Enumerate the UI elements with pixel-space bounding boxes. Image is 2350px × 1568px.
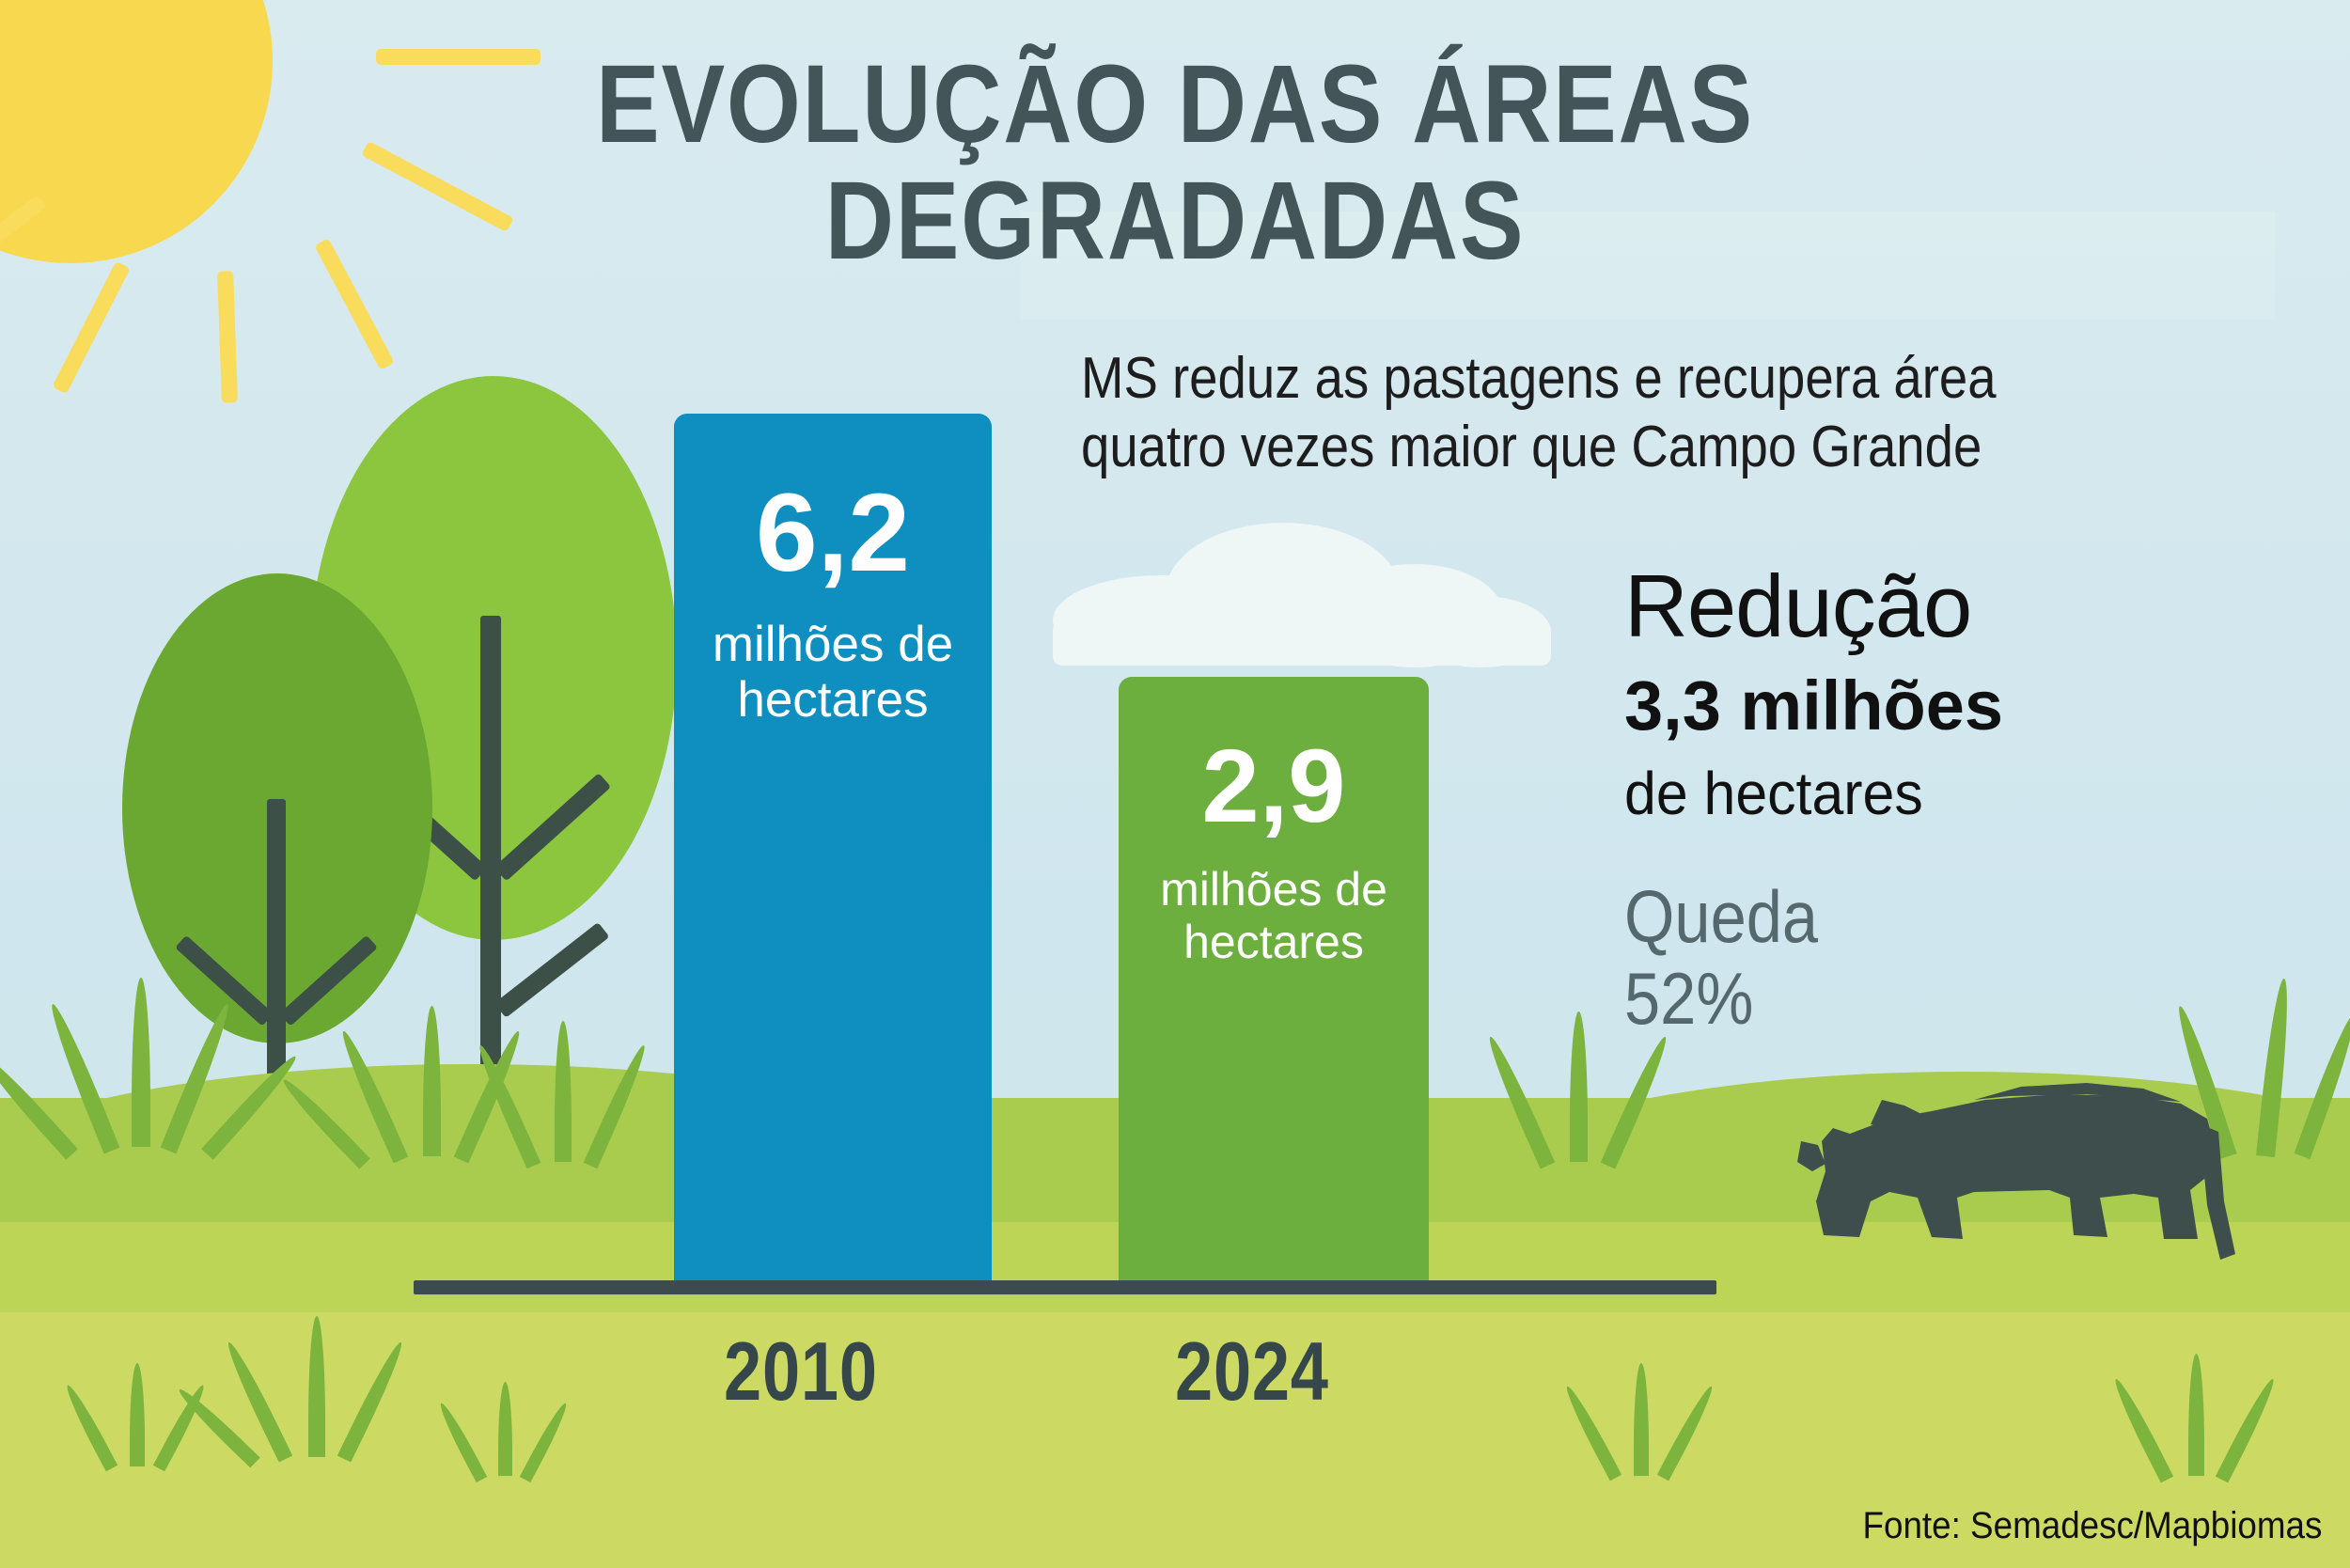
reducao-amount-unit: de hectares	[1624, 763, 1923, 823]
title-line-1: EVOLUÇÃO DAS ÁREAS	[164, 47, 2185, 164]
bar-2024-value: 2,9	[1202, 735, 1346, 839]
year-label-2010: 2010	[724, 1324, 878, 1419]
bar-2010-unit: milhões de hectares	[713, 617, 953, 729]
bar-2024-unit: milhões de hectares	[1160, 863, 1387, 968]
reducao-amount: 3,3 milhões	[1624, 671, 2003, 741]
bar-2024[interactable]: 2,9 milhões de hectares	[1119, 677, 1429, 1290]
grass-icon	[216, 1316, 423, 1457]
page-title: EVOLUÇÃO DAS ÁREAS DEGRADADAS	[0, 47, 2350, 280]
bar-2024-unit-line2: hectares	[1183, 916, 1364, 968]
bar-2024-unit-line1: milhões de	[1160, 863, 1387, 916]
reducao-label: Redução	[1624, 562, 1971, 651]
page-subtitle: MS reduz as pastagens e recupera área qu…	[1081, 344, 2057, 481]
grass-icon	[19, 978, 282, 1147]
infographic-canvas: EVOLUÇÃO DAS ÁREAS DEGRADADAS MS reduz a…	[0, 0, 2350, 1568]
queda-label: Queda	[1624, 876, 1818, 958]
grass-icon	[451, 1021, 696, 1162]
subtitle-line-1: MS reduz as pastagens e recupera área	[1081, 344, 2057, 413]
subtitle-line-2: quatro vezes maior que Campo Grande	[1081, 413, 2057, 481]
year-label-2024: 2024	[1175, 1324, 1329, 1419]
title-line-2: DEGRADADAS	[164, 164, 2185, 280]
bar-2010-unit-line1: milhões de	[713, 617, 953, 672]
bar-2010-value: 6,2	[756, 478, 910, 588]
grass-icon	[1560, 1363, 1730, 1476]
grass-icon	[432, 1382, 583, 1476]
source-credit: Fonte: Semadesc/Mapbiomas	[1862, 1505, 2322, 1547]
grass-icon	[1466, 1011, 1701, 1162]
chart-baseline	[414, 1280, 1716, 1294]
bar-2010-unit-line2: hectares	[737, 672, 928, 728]
grass-icon	[2106, 1354, 2294, 1476]
bar-2010[interactable]: 6,2 milhões de hectares	[674, 414, 992, 1290]
cow-icon	[1739, 1013, 2322, 1324]
